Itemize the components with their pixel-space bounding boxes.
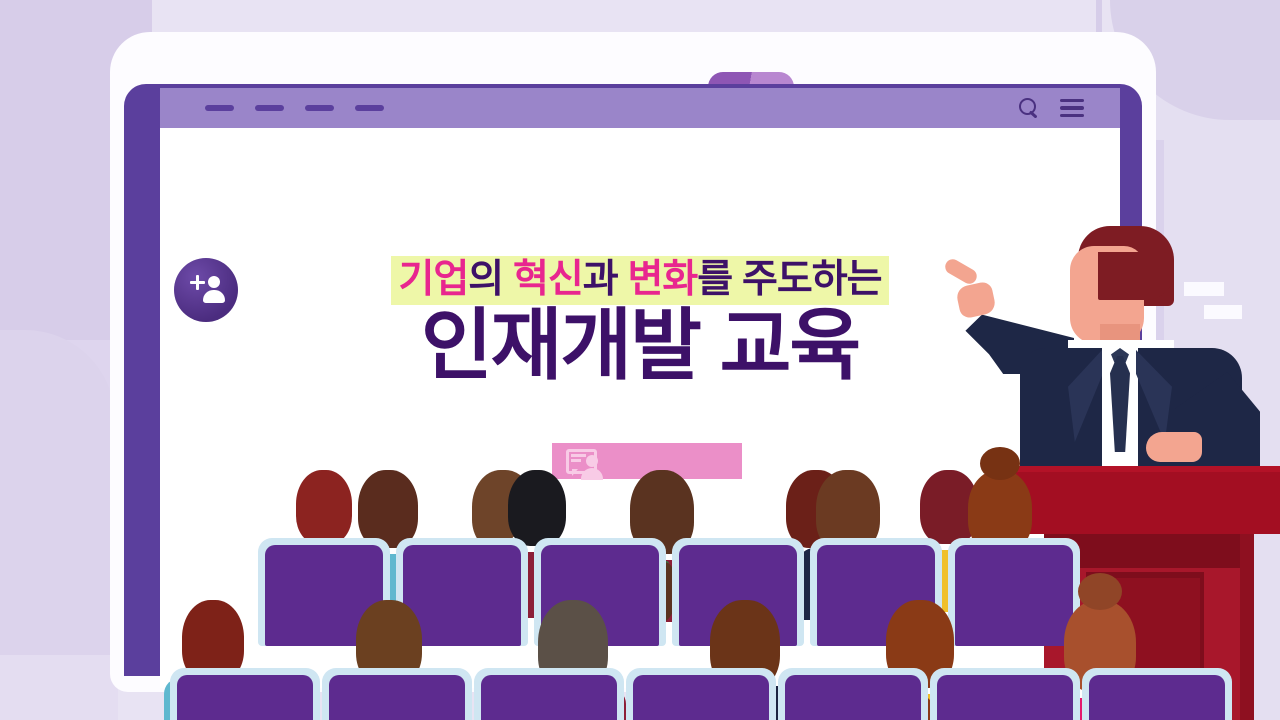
- theater-seat[interactable]: [170, 668, 320, 720]
- theater-seat[interactable]: [474, 668, 624, 720]
- nav-placeholder-dashes: [205, 105, 384, 111]
- seat-cushion: [633, 675, 769, 720]
- theater-seat[interactable]: [1082, 668, 1232, 720]
- subtitle-seg-1: 기업: [399, 258, 469, 301]
- theater-seat[interactable]: [778, 668, 928, 720]
- audience-person-head: [508, 470, 566, 546]
- subtitle-seg-2: 의: [468, 258, 513, 301]
- nav-dash-4[interactable]: [355, 105, 384, 111]
- subtitle-seg-4: 과: [583, 258, 628, 301]
- nav-dash-2[interactable]: [255, 105, 284, 111]
- audience-person-bun: [980, 447, 1020, 480]
- browser-toolbar: [160, 88, 1120, 128]
- search-icon[interactable]: [1019, 98, 1039, 118]
- seat-cushion: [481, 675, 617, 720]
- audience-person-bun: [1078, 573, 1123, 610]
- presentation-scene: 기업의 혁신과 변화를 주도하는 인재개발 교육: [0, 0, 1280, 720]
- slide-subtitle: 기업의 혁신과 변화를 주도하는: [391, 256, 890, 305]
- seat-cushion: [177, 675, 313, 720]
- theater-seat[interactable]: [930, 668, 1080, 720]
- seat-cushion: [329, 675, 465, 720]
- toolbar-icons: [1019, 98, 1084, 118]
- add-person-badge-icon: [174, 258, 238, 322]
- audience-group: [0, 440, 1280, 720]
- audience-person-head: [358, 470, 418, 548]
- theater-seat[interactable]: [322, 668, 472, 720]
- nav-dash-3[interactable]: [305, 105, 334, 111]
- hamburger-menu-icon[interactable]: [1060, 99, 1084, 118]
- seat-cushion: [1089, 675, 1225, 720]
- nav-dash-1[interactable]: [205, 105, 234, 111]
- subtitle-seg-3: 혁신: [513, 258, 583, 301]
- seat-cushion: [937, 675, 1073, 720]
- subtitle-seg-6: 를 주도하는: [697, 258, 881, 301]
- pointing-hand-icon: [944, 262, 1008, 320]
- subtitle-seg-5: 변화: [627, 258, 697, 301]
- theater-seat[interactable]: [626, 668, 776, 720]
- seat-cushion: [785, 675, 921, 720]
- presenter-hair-fringe: [1098, 252, 1174, 300]
